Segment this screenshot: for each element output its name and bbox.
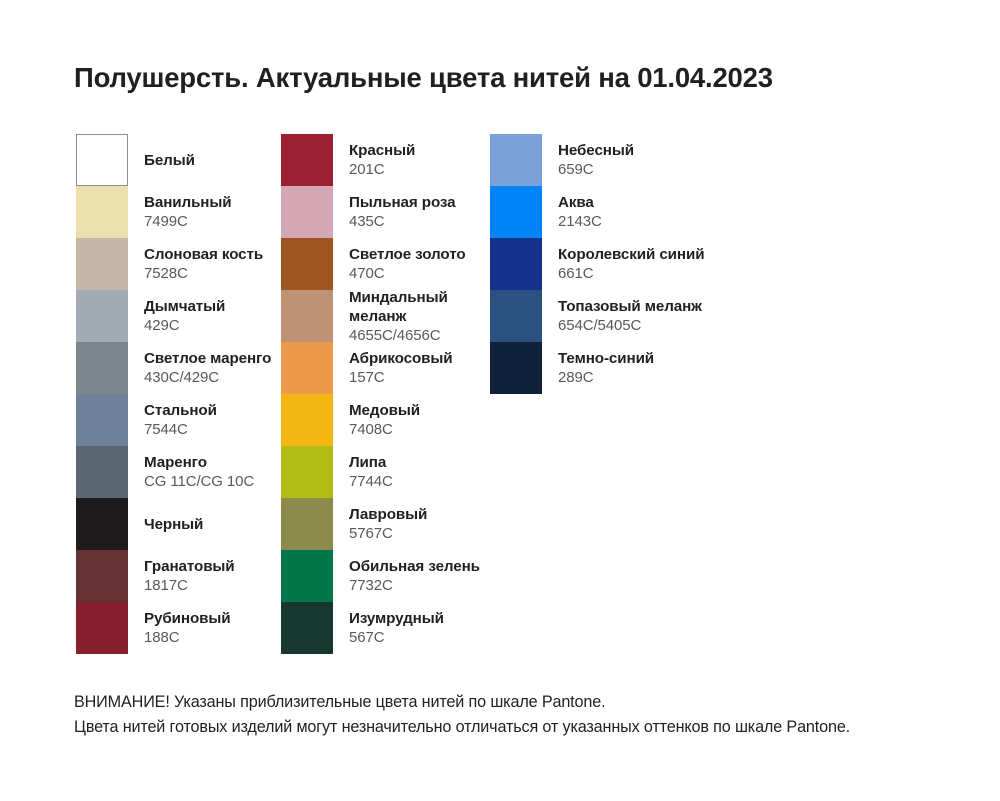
color-swatch[interactable] [76, 394, 128, 446]
color-name: Темно-синий [558, 349, 654, 368]
color-name: Красный [349, 141, 415, 160]
pantone-code: 188C [144, 628, 179, 647]
color-entry[interactable]: Лавровый5767C [281, 498, 541, 550]
color-palette: БелыйВанильный7499CСлоновая кость7528CДы… [76, 134, 936, 654]
pantone-code: 661C [558, 264, 593, 283]
pantone-code: 470C [349, 264, 384, 283]
footer-note-line-1: ВНИМАНИЕ! Указаны приблизительные цвета … [74, 690, 964, 715]
color-swatch[interactable] [76, 134, 128, 186]
color-swatch[interactable] [281, 290, 333, 342]
color-swatch[interactable] [490, 186, 542, 238]
color-entry[interactable]: Изумрудный567C [281, 602, 541, 654]
color-entry[interactable]: Топазовый меланж654C/5405C [490, 290, 750, 342]
color-swatch[interactable] [490, 290, 542, 342]
color-swatch[interactable] [76, 498, 128, 550]
color-swatch[interactable] [281, 134, 333, 186]
color-entry-labels: Медовый7408C [349, 394, 544, 446]
color-name: Топазовый меланж [558, 297, 702, 316]
color-swatch[interactable] [76, 342, 128, 394]
color-swatch[interactable] [281, 498, 333, 550]
color-entry[interactable]: Обильная зелень7732C [281, 550, 541, 602]
color-swatch[interactable] [76, 550, 128, 602]
color-name: Рубиновый [144, 609, 231, 628]
pantone-code: CG 11C/CG 10C [144, 472, 254, 491]
color-swatch[interactable] [76, 238, 128, 290]
color-entry-labels: Королевский синий661C [558, 238, 753, 290]
color-name: Белый [144, 151, 195, 170]
color-swatch[interactable] [76, 290, 128, 342]
color-name: Аква [558, 193, 594, 212]
color-swatch[interactable] [281, 602, 333, 654]
color-name: Светлое золото [349, 245, 466, 264]
color-name: Лавровый [349, 505, 427, 524]
color-entry[interactable]: Медовый7408C [281, 394, 541, 446]
color-entry-labels: Небесный659C [558, 134, 753, 186]
color-entry[interactable]: Аква2143C [490, 186, 750, 238]
color-name: Ванильный [144, 193, 232, 212]
color-name: Дымчатый [144, 297, 225, 316]
color-entry-labels: Обильная зелень7732C [349, 550, 544, 602]
color-name: Королевский синий [558, 245, 704, 264]
pantone-code: 659C [558, 160, 593, 179]
color-name: Светлое маренго [144, 349, 271, 368]
pantone-code: 567C [349, 628, 384, 647]
color-swatch[interactable] [281, 238, 333, 290]
color-swatch[interactable] [76, 446, 128, 498]
color-name: Маренго [144, 453, 207, 472]
color-name: Слоновая кость [144, 245, 263, 264]
color-entry-labels: Темно-синий289C [558, 342, 753, 394]
color-swatch[interactable] [490, 134, 542, 186]
pantone-code: 654C/5405C [558, 316, 641, 335]
color-name: Обильная зелень [349, 557, 480, 576]
color-entry-labels: Лавровый5767C [349, 498, 544, 550]
pantone-code: 7744C [349, 472, 393, 491]
color-name: Черный [144, 515, 203, 534]
pantone-code: 7408C [349, 420, 393, 439]
color-name: Миндальный меланж [349, 288, 499, 326]
color-swatch[interactable] [490, 238, 542, 290]
color-swatch[interactable] [281, 342, 333, 394]
color-name: Пыльная роза [349, 193, 456, 212]
color-swatch[interactable] [76, 602, 128, 654]
color-name: Гранатовый [144, 557, 235, 576]
color-entry-labels: Изумрудный567C [349, 602, 544, 654]
pantone-code: 157C [349, 368, 384, 387]
color-entry[interactable]: Темно-синий289C [490, 342, 750, 394]
pantone-code: 7499C [144, 212, 188, 231]
color-entry-labels: Липа7744C [349, 446, 544, 498]
color-swatch[interactable] [281, 394, 333, 446]
pantone-code: 201C [349, 160, 384, 179]
color-entry-labels: Аква2143C [558, 186, 753, 238]
color-name: Стальной [144, 401, 217, 420]
color-swatch[interactable] [281, 186, 333, 238]
pantone-code: 7732C [349, 576, 393, 595]
pantone-code: 7528C [144, 264, 188, 283]
pantone-code: 2143C [558, 212, 602, 231]
color-swatch[interactable] [281, 550, 333, 602]
color-name: Абрикосовый [349, 349, 453, 368]
pantone-code: 5767C [349, 524, 393, 543]
pantone-code: 1817C [144, 576, 188, 595]
color-swatch[interactable] [76, 186, 128, 238]
pantone-code: 435C [349, 212, 384, 231]
pantone-code: 7544C [144, 420, 188, 439]
pantone-code: 289C [558, 368, 593, 387]
page-title: Полушерсть. Актуальные цвета нитей на 01… [74, 62, 954, 94]
color-entry-labels: Топазовый меланж654C/5405C [558, 290, 753, 342]
color-name: Небесный [558, 141, 634, 160]
pantone-code: 429C [144, 316, 179, 335]
color-entry[interactable]: Небесный659C [490, 134, 750, 186]
color-entry[interactable]: Королевский синий661C [490, 238, 750, 290]
color-swatch[interactable] [490, 342, 542, 394]
color-name: Липа [349, 453, 386, 472]
color-name: Изумрудный [349, 609, 444, 628]
footer-note-line-2: Цвета нитей готовых изделий могут незнач… [74, 715, 964, 740]
color-swatch[interactable] [281, 446, 333, 498]
color-entry[interactable]: Липа7744C [281, 446, 541, 498]
footer-note: ВНИМАНИЕ! Указаны приблизительные цвета … [74, 690, 964, 740]
pantone-code: 430C/429C [144, 368, 219, 387]
color-name: Медовый [349, 401, 420, 420]
color-chart-page: Полушерсть. Актуальные цвета нитей на 01… [0, 0, 1000, 801]
